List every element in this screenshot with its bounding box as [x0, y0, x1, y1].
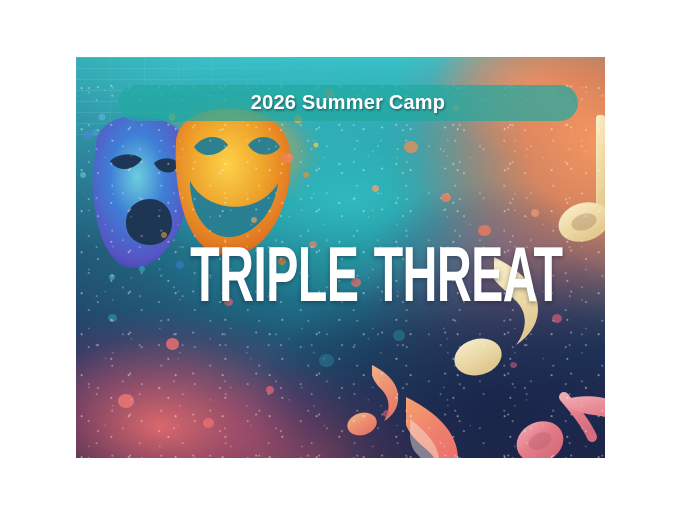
poster-artwork-image: 2026 Summer Camp TRIPLE THREAT: [76, 57, 605, 458]
page-title: TRIPLE THREAT: [190, 243, 562, 307]
banner-pill[interactable]: 2026 Summer Camp: [118, 85, 578, 121]
headline-container: TRIPLE THREAT: [76, 243, 605, 307]
banner-label: 2026 Summer Camp: [251, 92, 445, 115]
poster-canvas: 2026 Summer Camp TRIPLE THREAT: [0, 0, 680, 510]
